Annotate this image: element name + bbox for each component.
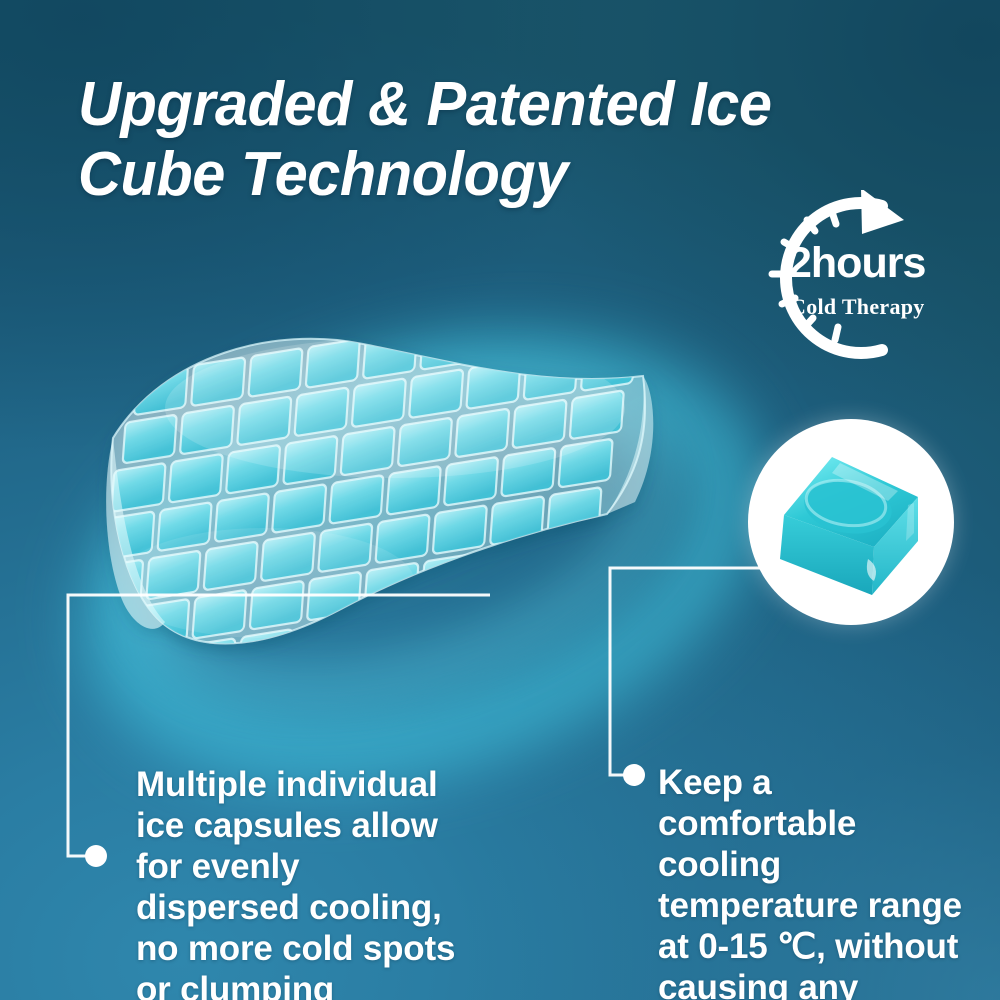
callout-text-right: Keep a comfortable cooling temperature r… xyxy=(658,762,978,1000)
page-title: Upgraded & Patented Ice Cube Technology xyxy=(78,70,913,210)
cold-therapy-badge: 2hours Cold Therapy xyxy=(722,190,972,365)
callout-text-left: Multiple individual ice capsules allow f… xyxy=(136,764,466,1000)
gel-ice-sheet-product xyxy=(95,318,675,668)
badge-hours-label: 2hours xyxy=(788,242,968,285)
product-feature-poster: Upgraded & Patented Ice Cube Technology … xyxy=(0,0,1000,1000)
ice-cube-inset xyxy=(748,419,954,625)
badge-subtitle: Cold Therapy xyxy=(790,295,975,319)
